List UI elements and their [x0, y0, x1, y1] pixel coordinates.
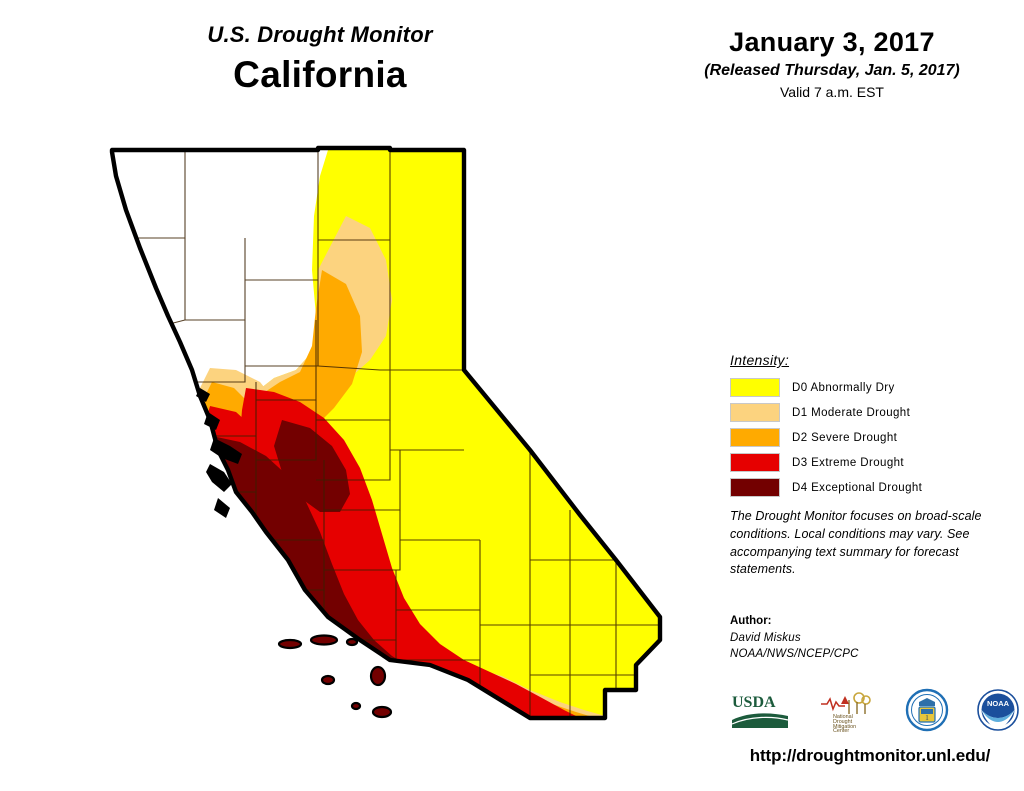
page-title: California	[0, 54, 640, 96]
legend-label-d4: D4 Exceptional Drought	[792, 482, 922, 494]
legend: Intensity: D0 Abnormally Dry D1 Moderate…	[730, 352, 1010, 502]
legend-item-d4: D4 Exceptional Drought	[730, 477, 1010, 498]
usda-seal-logo: 1	[905, 688, 949, 737]
title-block: U.S. Drought Monitor California	[0, 22, 640, 96]
author-name: David Miskus	[730, 630, 998, 647]
legend-swatch-d1	[730, 403, 780, 422]
svg-text:NOAA: NOAA	[987, 699, 1010, 708]
legend-swatch-d4	[730, 478, 780, 497]
date-block: January 3, 2017 (Released Thursday, Jan.…	[640, 27, 1024, 100]
legend-swatch-d2	[730, 428, 780, 447]
legend-label-d3: D3 Extreme Drought	[792, 457, 904, 469]
disclaimer-text: The Drought Monitor focuses on broad-sca…	[730, 508, 998, 579]
legend-swatch-d0	[730, 378, 780, 397]
drought-map	[60, 120, 720, 740]
partner-logos: USDA National Drought Mitigation Center	[730, 683, 1020, 741]
legend-item-d0: D0 Abnormally Dry	[730, 377, 1010, 398]
legend-label-d0: D0 Abnormally Dry	[792, 382, 895, 394]
legend-item-d2: D2 Severe Drought	[730, 427, 1010, 448]
svg-text:Center: Center	[833, 728, 849, 732]
valid-date: January 3, 2017	[640, 27, 1024, 58]
author-organization: NOAA/NWS/NCEP/CPC	[730, 646, 998, 663]
legend-swatch-d3	[730, 453, 780, 472]
national-drought-mitigation-center-logo: National Drought Mitigation Center	[819, 688, 877, 737]
website-url[interactable]: http://droughtmonitor.unl.edu/	[720, 746, 1020, 766]
legend-item-d1: D1 Moderate Drought	[730, 402, 1010, 423]
release-date: (Released Thursday, Jan. 5, 2017)	[640, 62, 1024, 80]
legend-item-d3: D3 Extreme Drought	[730, 452, 1010, 473]
svg-text:1: 1	[925, 714, 929, 722]
author-heading: Author:	[730, 613, 998, 630]
noaa-logo: NOAA	[976, 688, 1020, 737]
legend-title: Intensity:	[730, 352, 1010, 368]
report-subtitle: U.S. Drought Monitor	[0, 22, 640, 48]
legend-label-d2: D2 Severe Drought	[792, 432, 897, 444]
legend-label-d1: D1 Moderate Drought	[792, 407, 910, 419]
author-block: Author: David Miskus NOAA/NWS/NCEP/CPC	[730, 613, 998, 663]
usda-logo: USDA	[730, 690, 792, 735]
valid-time: Valid 7 a.m. EST	[640, 84, 1024, 100]
svg-text:USDA: USDA	[732, 694, 776, 711]
